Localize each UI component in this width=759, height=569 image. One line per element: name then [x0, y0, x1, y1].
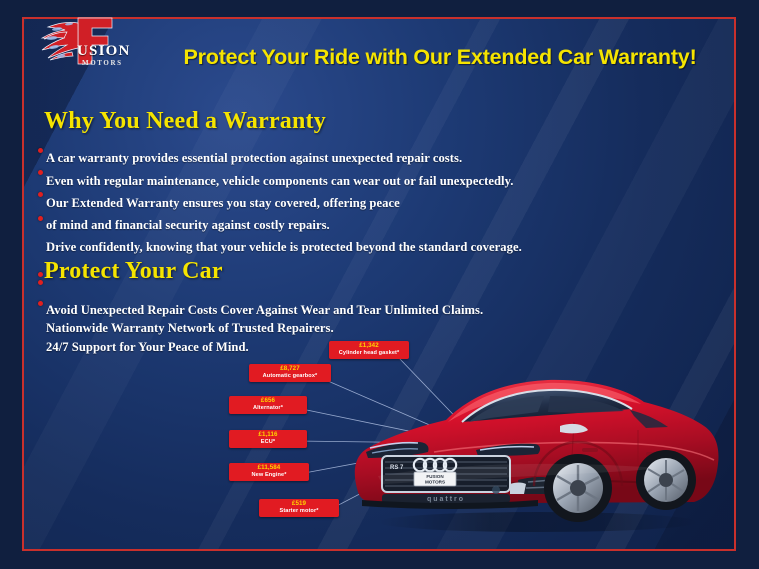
callout-price: £1,342 — [334, 343, 404, 350]
body-line: of mind and financial security against c… — [46, 218, 330, 233]
callout-price: £11,584 — [234, 465, 304, 472]
page-title: Protect Your Ride with Our Extended Car … — [155, 45, 725, 70]
section-heading-protect-your-car: Protect Your Car — [44, 258, 223, 285]
callout-label[interactable]: £11,584 New Engine* — [229, 463, 309, 481]
body-line: A car warranty provides essential protec… — [46, 151, 462, 166]
callout-price: £1,116 — [234, 432, 302, 439]
callout-label[interactable]: £8,727 Automatic gearbox* — [249, 364, 331, 382]
callout-part: Starter motor* — [264, 508, 334, 514]
bullet-marker — [38, 170, 43, 175]
body-line: Our Extended Warranty ensures you stay c… — [46, 196, 400, 211]
red-audi-rs7-car-image: RS 7 FUSION MOTORS quattro — [338, 352, 728, 552]
callout-price: £656 — [234, 398, 302, 405]
callout-label[interactable]: £656 Alternator* — [229, 396, 307, 414]
bullet-marker — [38, 272, 43, 277]
logo-submark: MOTORS — [82, 59, 123, 67]
bullet-marker — [38, 216, 43, 221]
callout-label[interactable]: £519 Starter motor* — [259, 499, 339, 517]
bullet-marker — [38, 192, 43, 197]
callout-label[interactable]: £1,342 Cylinder head gasket* — [329, 341, 409, 359]
warranty-poster: USION MOTORS Protect Your Ride with Our … — [0, 0, 759, 569]
svg-text:quattro: quattro — [427, 496, 465, 503]
body-line: Avoid Unexpected Repair Costs Cover Agai… — [46, 303, 483, 318]
callout-price: £8,727 — [254, 366, 326, 373]
callout-label[interactable]: £1,116 ECU* — [229, 430, 307, 448]
bullet-marker — [38, 280, 43, 285]
callout-price: £519 — [264, 501, 334, 508]
svg-text:RS 7: RS 7 — [390, 465, 404, 471]
callout-part: Cylinder head gasket* — [334, 350, 404, 356]
bullet-marker — [38, 301, 43, 306]
bullet-marker — [38, 148, 43, 153]
body-line: 24/7 Support for Your Peace of Mind. — [46, 340, 249, 355]
callout-part: Alternator* — [234, 405, 302, 411]
section-heading-why-you-need-a-warranty: Why You Need a Warranty — [44, 108, 326, 135]
poster-header: USION MOTORS Protect Your Ride with Our … — [0, 0, 759, 78]
body-line: Drive confidently, knowing that your veh… — [46, 240, 522, 255]
logo-wordmark: USION — [77, 43, 131, 60]
callout-part: ECU* — [234, 439, 302, 445]
callout-part: Automatic gearbox* — [254, 373, 326, 379]
body-line: Even with regular maintenance, vehicle c… — [46, 174, 513, 189]
callout-part: New Engine* — [234, 472, 304, 478]
fusion-motors-logo: USION MOTORS — [20, 12, 148, 74]
body-line: Nationwide Warranty Network of Trusted R… — [46, 321, 334, 336]
